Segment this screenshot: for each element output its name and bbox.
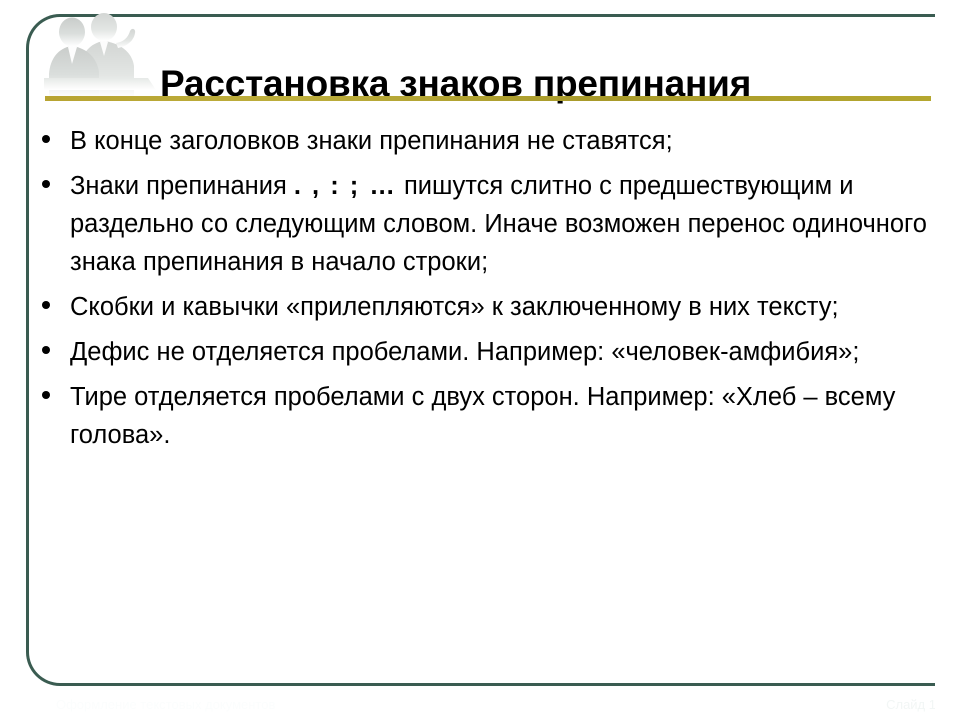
page-title: Расстановка знаков препинания (160, 58, 930, 114)
list-item-label: В конце заголовков знаки препинания не с… (70, 122, 934, 160)
bullet-list: В конце заголовков знаки препинания не с… (34, 122, 934, 461)
slide-header: Расстановка знаков препинания (0, 0, 960, 108)
frame-edge-mask (935, 0, 960, 720)
list-item: Дефис не отделяется пробелами. Например:… (34, 333, 934, 371)
list-item-label: Скобки и кавычки «прилепляются» к заключ… (70, 288, 934, 326)
punctuation-marks-emphasis: . , : ; … (294, 172, 397, 200)
list-item-label: Тире отделяется пробелами с двух сторон.… (70, 378, 934, 454)
presentation-slide: Расстановка знаков препинания В конце за… (0, 0, 960, 720)
footer-right-text: Слайд 1 (886, 697, 936, 712)
bullet-dot-icon (42, 301, 50, 309)
list-item: В конце заголовков знаки препинания не с… (34, 122, 934, 160)
bullet-dot-icon (42, 391, 50, 399)
list-item: Тире отделяется пробелами с двух сторон.… (34, 378, 934, 454)
list-item-label: Знаки препинания . , : ; … пишутся слитн… (70, 167, 934, 281)
two-business-people-silhouette-icon (44, 12, 172, 98)
bullet-dot-icon (42, 135, 50, 143)
list-item-text-before: Знаки препинания (70, 172, 294, 200)
title-underline-rule (45, 96, 931, 101)
list-item: Скобки и кавычки «прилепляются» к заключ… (34, 288, 934, 326)
list-item: Знаки препинания . , : ; … пишутся слитн… (34, 167, 934, 281)
bullet-dot-icon (42, 180, 50, 188)
bullet-dot-icon (42, 346, 50, 354)
list-item-label: Дефис не отделяется пробелами. Например:… (70, 333, 934, 371)
footer-left-text: Оформление текстовых документов (56, 697, 275, 712)
